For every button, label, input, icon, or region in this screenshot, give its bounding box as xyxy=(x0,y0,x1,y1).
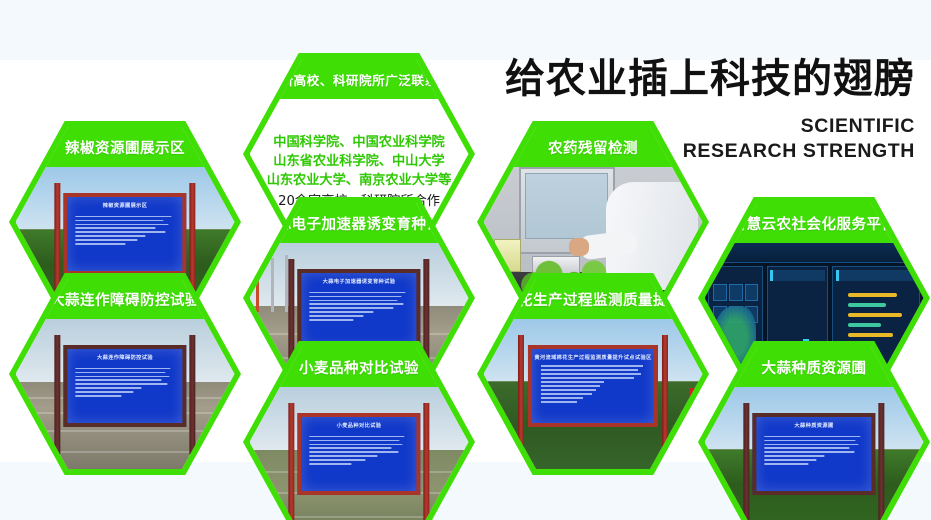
board-title: 大蒜电子加速器诱变育种试验 xyxy=(302,278,417,285)
hex-label: 智慧云农社会化服务平台 xyxy=(705,203,924,243)
board-title: 大蒜连作障碍防控试验 xyxy=(68,354,183,361)
board-title: 小麦品种对比试验 xyxy=(302,422,417,429)
hex-inner: 大蒜连作障碍防控试验 大蒜连作障碍防控试验 xyxy=(16,279,235,469)
hex-inner: 小麦品种对比试验 小麦品种对比试验 xyxy=(250,347,469,520)
hex-cell-garlic-germplasm-resource-garden[interactable]: 大蒜种质资源圃 大蒜种质资源圃 xyxy=(698,341,930,520)
poster-canvas: 给农业插上科技的翅膀 SCIENTIFIC RESEARCH STRENGTH … xyxy=(0,0,931,520)
collaboration-line: 山东农业大学、南京农业大学等 xyxy=(267,171,452,190)
photo-signboard-field: 小麦品种对比试验 xyxy=(250,387,469,520)
hex-cell-garlic-continuous-cropping[interactable]: 大蒜连作障碍防控试验 大蒜连作障碍防控试验 xyxy=(9,273,241,475)
board-title: 大蒜种质资源圃 xyxy=(757,422,872,429)
hex-cell-wheat-variety-comparison[interactable]: 小麦品种对比试验 小麦品种对比试验 xyxy=(243,341,475,520)
top-background-band xyxy=(0,0,931,60)
board-title: 辣椒资源圃展示区 xyxy=(68,202,183,209)
collaboration-line: 中国科学院、中国农业科学院 xyxy=(273,133,444,152)
hex-inner: 大蒜种质资源圃 大蒜种质资源圃 xyxy=(705,347,924,520)
board-title: 黄河流域棉花生产过程监测质量提升试点试验区 xyxy=(532,354,654,361)
hex-inner: 棉花生产过程监测质量提升 黄河流域棉花生产过程监测质量提升试点试验区 xyxy=(484,279,703,469)
hex-label: 辣椒资源圃展示区 xyxy=(16,127,235,167)
photo-signboard-garlic: 大蒜种质资源圃 xyxy=(705,387,924,520)
collaboration-line: 山东省农业科学院、中山大学 xyxy=(273,152,444,171)
photo-signboard-cotton: 黄河流域棉花生产过程监测质量提升试点试验区 xyxy=(484,319,703,469)
photo-signboard-soil: 大蒜连作障碍防控试验 xyxy=(16,319,235,469)
hex-cell-cotton-production-monitoring[interactable]: 棉花生产过程监测质量提升 黄河流域棉花生产过程监测质量提升试点试验区 xyxy=(477,273,709,475)
page-title: 给农业插上科技的翅膀 xyxy=(475,58,915,101)
collaboration-label: 与多所高校、科研院所广泛联系合作 xyxy=(250,59,469,99)
